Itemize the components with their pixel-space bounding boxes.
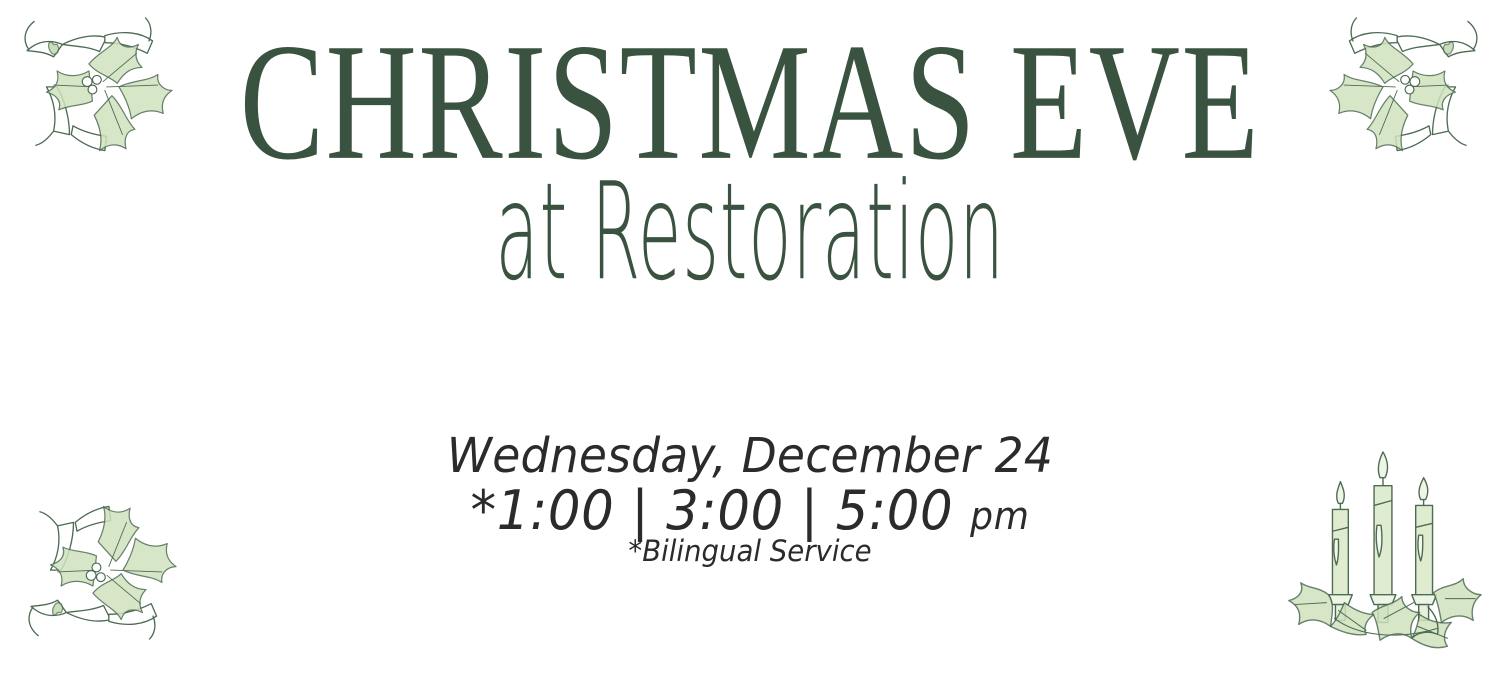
page-title: CHRISTMAS EVE — [150, 36, 1350, 170]
christmas-eve-flyer: CHRISTMAS EVE at Restoration Wednesday, … — [0, 0, 1500, 675]
headline-block: CHRISTMAS EVE at Restoration — [0, 36, 1500, 279]
event-times-text: *1:00 | 3:00 | 5:00 — [471, 479, 971, 542]
event-details-block: Wednesday, December 24 *1:00 | 3:00 | 5:… — [0, 432, 1500, 566]
bilingual-service-note: *Bilingual Service — [38, 536, 1463, 566]
page-subtitle: at Restoration — [300, 170, 1200, 294]
event-date: Wednesday, December 24 — [38, 432, 1463, 481]
event-times: *1:00 | 3:00 | 5:00 pm — [38, 483, 1463, 538]
event-times-ampm: pm — [970, 494, 1029, 538]
